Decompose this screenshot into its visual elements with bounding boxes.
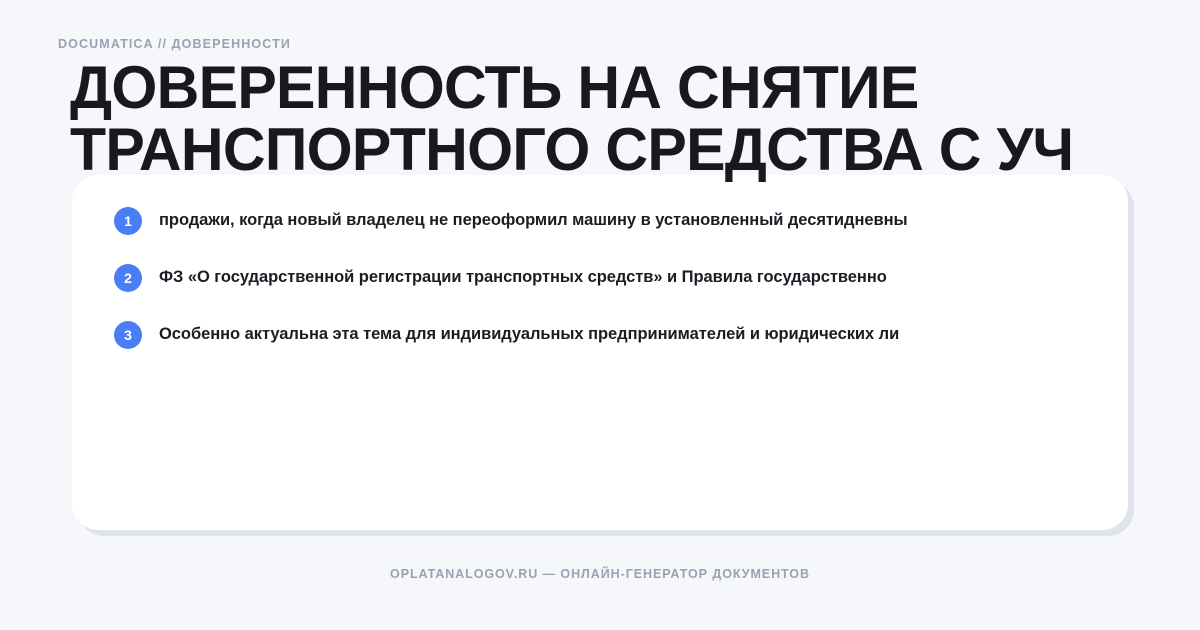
list-item: 3 Особенно актуальна эта тема для индиви… xyxy=(114,320,1092,349)
bullet-text: Особенно актуальна эта тема для индивиду… xyxy=(159,320,899,348)
bullet-number-badge: 3 xyxy=(114,321,142,349)
content-card: 1 продажи, когда новый владелец не перео… xyxy=(72,175,1128,530)
list-item: 1 продажи, когда новый владелец не перео… xyxy=(114,206,1092,235)
poster-canvas: DOCUMATICA // ДОВЕРЕННОСТИ ДОВЕРЕННОСТЬ … xyxy=(0,0,1200,630)
list-item: 2 ФЗ «О государственной регистрации тран… xyxy=(114,263,1092,292)
bullet-text: продажи, когда новый владелец не переофо… xyxy=(159,206,908,234)
breadcrumb: DOCUMATICA // ДОВЕРЕННОСТИ xyxy=(58,38,291,51)
page-title: ДОВЕРЕННОСТЬ НА СНЯТИЕ ТРАНСПОРТНОГО СРЕ… xyxy=(70,57,1134,181)
page-title-line-1: ДОВЕРЕННОСТЬ НА СНЯТИЕ xyxy=(70,57,1134,119)
bullet-number-badge: 1 xyxy=(114,207,142,235)
footer-attribution: OPLATANALOGOV.RU — ОНЛАЙН-ГЕНЕРАТОР ДОКУ… xyxy=(0,568,1200,581)
bullet-text: ФЗ «О государственной регистрации трансп… xyxy=(159,263,887,291)
bullet-number-badge: 2 xyxy=(114,264,142,292)
page-title-line-2: ТРАНСПОРТНОГО СРЕДСТВА С УЧ xyxy=(70,119,1134,181)
bullet-list: 1 продажи, когда новый владелец не перео… xyxy=(114,206,1092,349)
